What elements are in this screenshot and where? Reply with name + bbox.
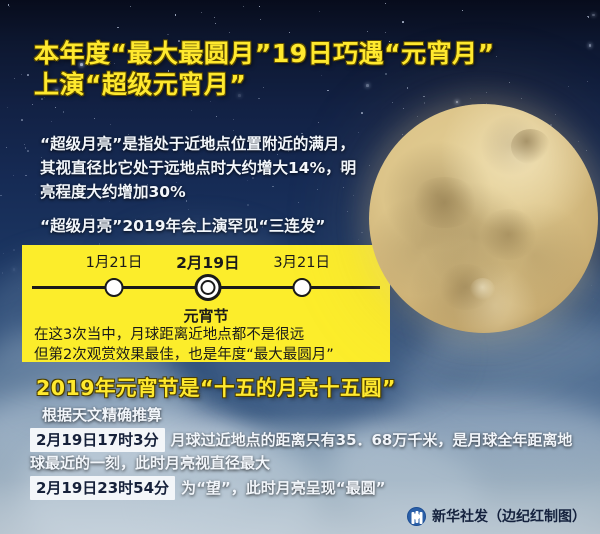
- star: [3, 253, 4, 254]
- star: [14, 78, 15, 79]
- star: [25, 175, 26, 176]
- star: [175, 14, 176, 15]
- star: [367, 31, 368, 32]
- star: [167, 34, 169, 36]
- credit-text: 新华社发（边纪红制图）: [432, 506, 586, 526]
- timeline-note: 在这3次当中，月球距离近地点都不是很远 但第2次观赏效果最佳，也是年度“最大最圆…: [34, 325, 390, 365]
- footer-credit: 新华社发（边纪红制图）: [407, 506, 586, 526]
- star: [592, 14, 595, 17]
- star: [6, 147, 7, 148]
- star: [578, 141, 579, 142]
- star: [13, 175, 14, 176]
- festival-label: 元宵节: [22, 305, 390, 326]
- star: [247, 204, 248, 205]
- timeline-dot: [194, 274, 221, 301]
- timeline-date-label: 2月19日: [176, 251, 239, 273]
- secondary-paragraph: “超级月亮”2019年会上演罕见“三连发”: [40, 215, 380, 237]
- star: [462, 10, 463, 11]
- page-title: 本年度“最大最圆月”19日巧遇“元宵月” 上演“超级元宵月”: [34, 38, 574, 100]
- timeline-date-label: 3月21日: [273, 251, 330, 272]
- fact-text: 为“望”，此时月亮呈现“最圆”: [181, 479, 385, 497]
- star: [289, 32, 290, 33]
- fact-row: 2月19日17时3分月球过近地点的距离只有35．68万千米，是月球全年距离地球最…: [30, 428, 582, 474]
- star: [587, 81, 588, 82]
- star: [201, 12, 202, 13]
- lead-paragraph: “超级月亮”是指处于近地点位置附近的满月，其视直径比它处于远地点时大约增大14%…: [40, 132, 370, 204]
- time-badge: 2月19日17时3分: [30, 428, 165, 452]
- star: [588, 16, 590, 18]
- moon-crater: [470, 278, 495, 301]
- star: [35, 194, 36, 195]
- star: [216, 116, 217, 117]
- star: [456, 101, 459, 104]
- star: [2, 272, 4, 274]
- star: [117, 27, 118, 28]
- bottom-subheading: 根据天文精确推算: [42, 404, 162, 425]
- star: [361, 112, 363, 114]
- moon-crater: [479, 209, 539, 259]
- star: [403, 108, 404, 109]
- star: [392, 102, 393, 103]
- star: [24, 144, 25, 145]
- timeline-note-line2: 但第2次观赏效果最佳，也是年度“最大最圆月”: [34, 345, 390, 365]
- star: [188, 209, 189, 210]
- star: [25, 147, 27, 149]
- star: [586, 150, 588, 152]
- star: [214, 17, 215, 18]
- star: [593, 298, 595, 300]
- star: [7, 107, 8, 108]
- star: [18, 288, 19, 289]
- star: [13, 249, 15, 251]
- star: [9, 6, 11, 8]
- star: [55, 107, 56, 108]
- star: [191, 110, 192, 111]
- star: [233, 119, 234, 120]
- moon-crater: [410, 177, 479, 227]
- star: [347, 211, 348, 212]
- star: [589, 44, 592, 47]
- timeline-note-line1: 在这3次当中，月球距离近地点都不是很远: [34, 325, 390, 345]
- star: [94, 118, 95, 119]
- star: [385, 3, 386, 4]
- star: [32, 104, 33, 105]
- infographic-poster: 1月21日2月19日3月21日 元宵节 在这3次当中，月球距离近地点都不是很远 …: [0, 0, 600, 534]
- star: [229, 32, 230, 33]
- timeline-date-labels: 1月21日2月19日3月21日: [22, 251, 390, 275]
- star: [233, 130, 234, 131]
- star: [63, 111, 65, 113]
- moon-crater: [511, 129, 550, 163]
- section-heading: 2019年元宵节是“十五的月亮十五圆”: [36, 371, 576, 401]
- star: [417, 116, 418, 117]
- star: [8, 4, 10, 6]
- fact-row: 2月19日23时54分为“望”，此时月亮呈现“最圆”: [30, 476, 582, 500]
- title-line-2: 上演“超级元宵月”: [34, 69, 574, 100]
- star: [587, 16, 589, 18]
- timeline-panel: 1月21日2月19日3月21日 元宵节 在这3次当中，月球距离近地点都不是很远 …: [22, 245, 390, 362]
- star: [27, 150, 29, 152]
- moon-image: [369, 104, 598, 333]
- timeline-dot: [292, 278, 311, 297]
- star: [51, 121, 52, 122]
- timeline-dot: [105, 278, 124, 297]
- star: [27, 74, 29, 76]
- star: [13, 268, 16, 271]
- star: [21, 119, 23, 121]
- title-line-1: 本年度“最大最圆月”19日巧遇“元宵月”: [34, 39, 495, 68]
- star: [385, 32, 386, 33]
- star: [0, 195, 2, 197]
- star: [591, 285, 592, 286]
- star: [555, 114, 556, 115]
- star: [260, 19, 261, 20]
- star: [424, 102, 425, 103]
- timeline-date-label: 1月21日: [86, 251, 143, 272]
- star: [318, 122, 319, 123]
- star: [259, 6, 260, 7]
- xinhua-logo-icon: [407, 507, 426, 526]
- star: [319, 11, 320, 12]
- time-badge: 2月19日23时54分: [30, 476, 175, 500]
- star: [402, 134, 403, 135]
- star: [215, 23, 216, 24]
- star: [21, 74, 22, 75]
- star: [210, 101, 211, 102]
- star: [110, 124, 111, 125]
- star: [358, 239, 359, 240]
- star: [130, 6, 131, 7]
- star: [402, 21, 404, 23]
- star: [243, 6, 244, 7]
